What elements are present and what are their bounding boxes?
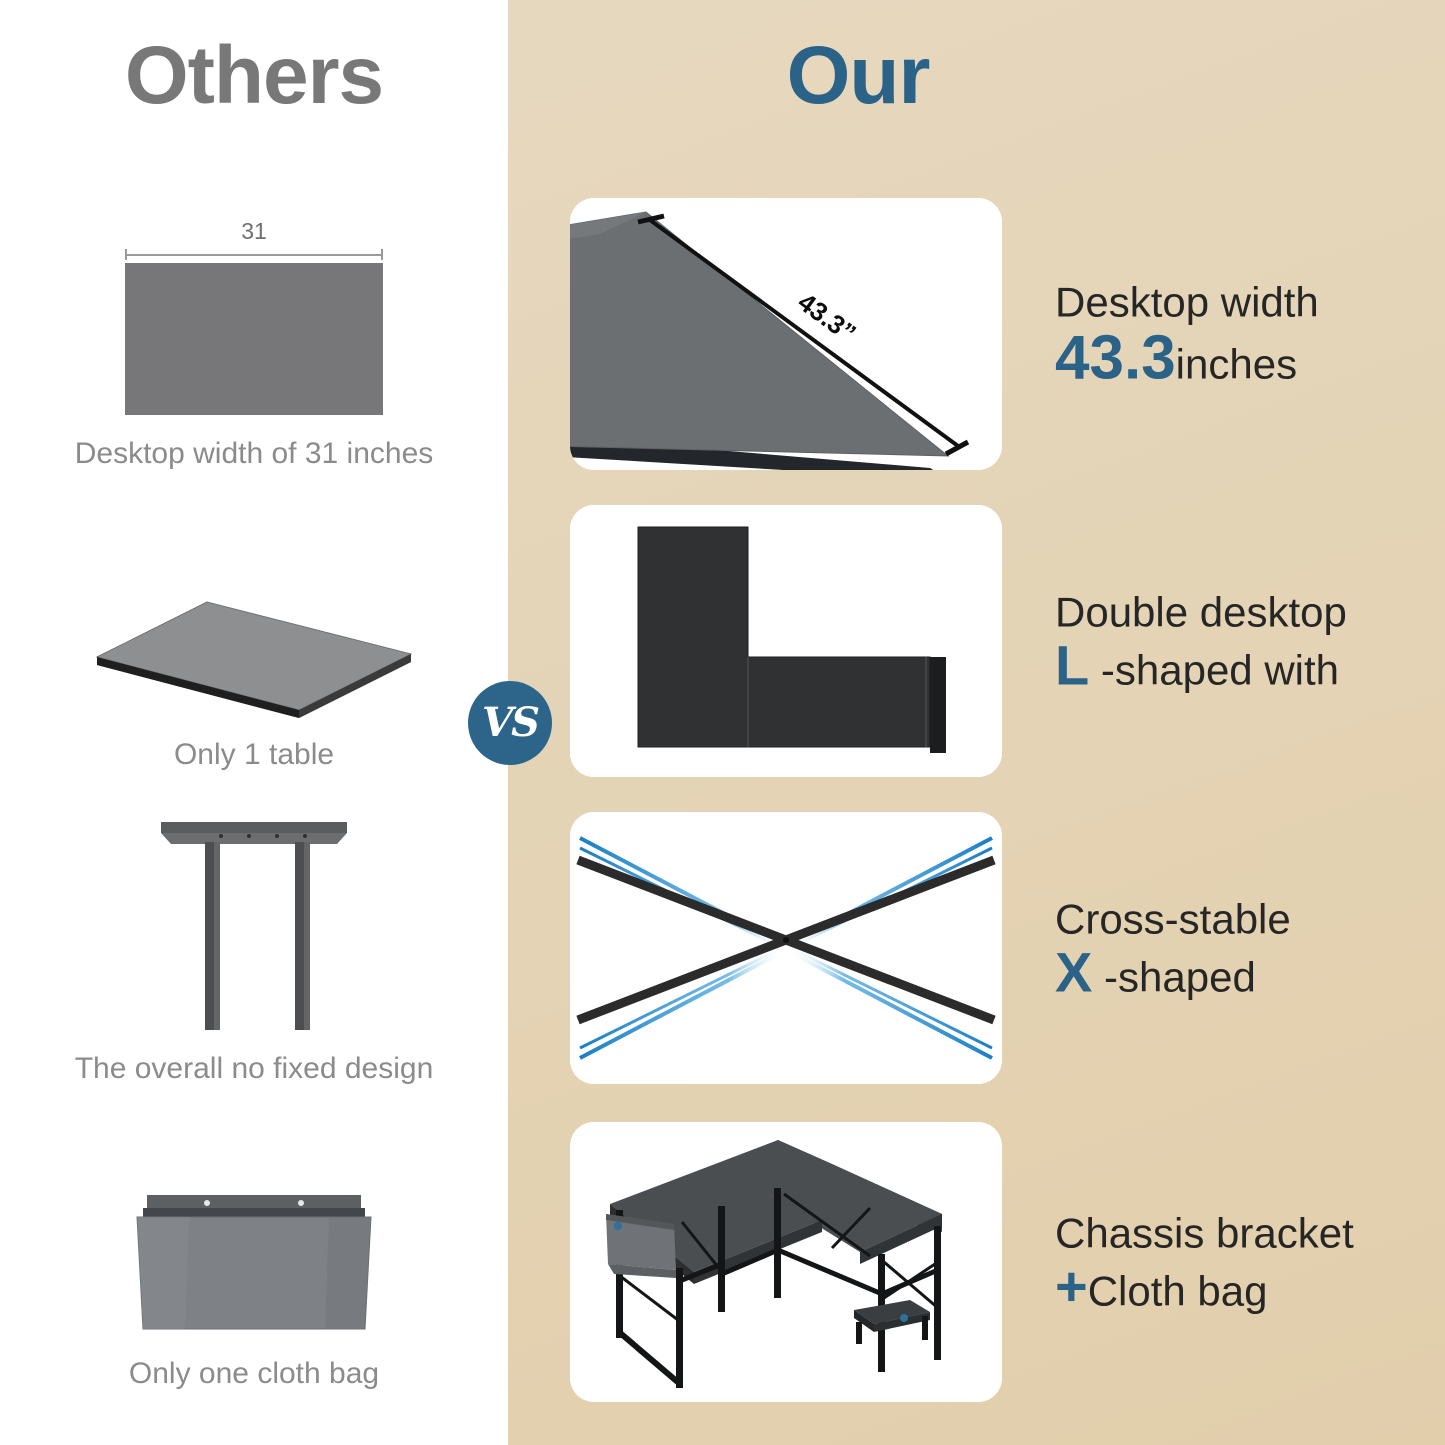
left-item-desktop-width: 31 Desktop width of 31 inches [0,218,508,470]
text-cross-stable: Cross-stable X -shaped [1055,895,1445,1000]
cloth-bag-figure [129,1195,379,1335]
others-heading: Others [0,35,508,117]
left-item-one-cloth-bag: Only one cloth bag [0,1195,508,1390]
others-column: Others 31 Desktop width of 31 inches [0,0,508,1445]
tabletop-slab-icon [89,600,419,720]
our-line2-chassis-bracket: +Cloth bag [1055,1259,1445,1315]
l-shaped-panels-image [570,505,1002,777]
left-caption-single-table: Only 1 table [0,738,508,771]
x-shape-glyph: X [1055,941,1092,1004]
our-line1-double-desktop: Double desktop [1055,588,1445,635]
left-caption-desktop-width: Desktop width of 31 inches [0,437,508,470]
left-caption-one-cloth-bag: Only one cloth bag [0,1357,508,1390]
desktop-width-number: 43.3 [1055,324,1176,393]
vs-badge: VS [468,681,552,765]
dimension-tick-left [125,249,127,260]
cross-stable-rest: -shaped [1104,954,1256,1001]
left-item-single-table: Only 1 table [0,600,508,771]
card-double-desktop [570,505,1002,777]
cloth-bag-icon [129,1195,379,1337]
our-line1-chassis-bracket: Chassis bracket [1055,1209,1445,1256]
our-line2-desktop-width: 43.3inches [1055,328,1445,390]
our-line2-cross-stable: X -shaped [1055,945,1445,1001]
our-line1-desktop-width: Desktop width [1055,278,1445,325]
x-brace-image [570,812,1002,1084]
dimension-line [125,249,383,260]
our-row-double-desktop: Double desktop L -shaped with [570,505,1430,777]
our-line2-double-desktop: L -shaped with [1055,638,1445,694]
our-row-chassis-bracket: Chassis bracket +Cloth bag [570,1122,1430,1402]
dimension-tick-right [381,249,383,260]
comparison-infographic: Others 31 Desktop width of 31 inches [0,0,1445,1445]
text-double-desktop: Double desktop L -shaped with [1055,588,1445,693]
double-desktop-rest: -shaped with [1101,647,1339,694]
card-desktop-width: 43.3” [570,198,1002,470]
gray-desktop-rectangle [125,263,383,415]
desktop-width-figure: 31 [125,218,383,415]
table-frame-icon [159,820,349,1032]
tabletop-slab-figure [89,600,419,720]
text-chassis-bracket: Chassis bracket +Cloth bag [1055,1209,1445,1314]
card-chassis-bracket [570,1122,1002,1402]
our-row-cross-stable: Cross-stable X -shaped [570,812,1430,1084]
dimension-label: 31 [125,218,383,245]
our-line1-cross-stable: Cross-stable [1055,895,1445,942]
text-desktop-width: Desktop width 43.3inches [1055,278,1445,389]
left-item-no-fixed-design: The overall no fixed design [0,820,508,1085]
our-row-desktop-width: 43.3” Desktop width 43.3inches [570,198,1430,470]
our-heading: Our [508,35,1208,117]
chassis-bracket-rest: Cloth bag [1088,1268,1268,1315]
desktop-dimension-image: 43.3” [570,198,1002,470]
vs-badge-label: VS [482,703,538,743]
card-cross-stable [570,812,1002,1084]
desktop-width-unit: inches [1176,341,1297,388]
plus-icon: + [1055,1255,1088,1318]
left-caption-no-fixed-design: The overall no fixed design [0,1052,508,1085]
l-shape-glyph: L [1055,634,1089,697]
l-desk-image [570,1122,1002,1402]
table-frame-figure [159,820,349,1030]
